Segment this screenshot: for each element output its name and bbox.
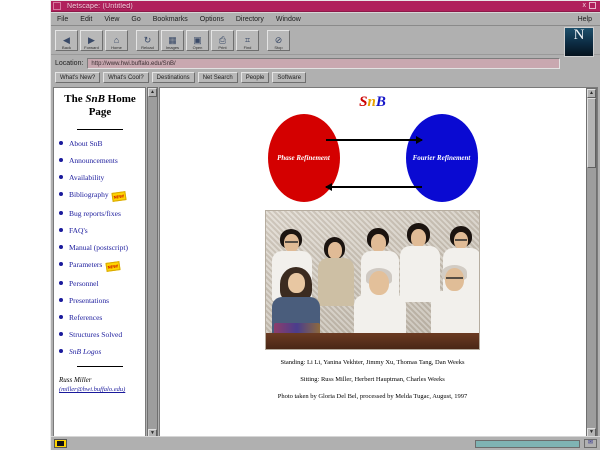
arrow-right-icon <box>326 139 422 141</box>
security-key-icon[interactable] <box>54 439 67 448</box>
sidebar-footer: Russ Miller (miller@hwi.buffalo.edu) <box>59 376 141 394</box>
menu-options[interactable]: Options <box>200 16 231 23</box>
footer-divider <box>77 366 123 367</box>
title-divider <box>77 129 123 130</box>
dir-software[interactable]: Software <box>272 72 306 83</box>
window-menu-icon[interactable] <box>53 2 61 10</box>
sidebar-item-presentations[interactable]: Presentations <box>59 296 141 305</box>
home-button[interactable]: ⌂ Home <box>105 30 128 51</box>
photo-caption-sitting: Sitting: Russ Miller, Herbert Hauptman, … <box>160 376 585 384</box>
sidebar-item-availability[interactable]: Availability <box>59 173 141 182</box>
open-icon: ▣ <box>193 35 202 45</box>
stop-icon: ⊘ <box>275 35 283 45</box>
sidebar-item-faqs[interactable]: FAQ's <box>59 226 141 235</box>
find-button[interactable]: ⌗ Find <box>236 30 259 51</box>
fourier-refinement-node: Fourier Refinement <box>406 114 478 202</box>
directory-button-bar: What's New? What's Cool? Destinations Ne… <box>51 71 600 85</box>
back-button[interactable]: ◀ Back <box>55 30 78 51</box>
location-label: Location: <box>55 60 83 67</box>
snb-logo-heading: SnB <box>160 94 585 111</box>
sidebar-item-structures-solved[interactable]: Structures Solved <box>59 330 141 339</box>
bullet-icon <box>59 349 63 353</box>
arrow-left-icon <box>326 186 422 188</box>
bullet-icon <box>59 175 63 179</box>
bullet-icon <box>59 262 63 266</box>
sidebar-frame-scrollbar[interactable]: ▲ ▼ <box>147 87 158 439</box>
menu-go[interactable]: Go <box>131 16 147 23</box>
main-frame: SnB Phase Refinement Fourier Refinement <box>159 87 598 439</box>
scroll-up-icon[interactable]: ▲ <box>587 89 596 98</box>
netscape-logo-icon[interactable]: N <box>564 27 594 57</box>
bullet-icon <box>59 298 63 302</box>
bullet-icon <box>59 158 63 162</box>
forward-arrow-icon: ▶ <box>88 35 95 45</box>
menu-edit[interactable]: Edit <box>80 16 99 23</box>
group-photo <box>265 210 480 350</box>
dir-whats-new[interactable]: What's New? <box>55 72 100 83</box>
author-name: Russ Miller <box>59 376 141 385</box>
forward-button[interactable]: ▶ Forward <box>80 30 103 51</box>
menu-bar: File Edit View Go Bookmarks Options Dire… <box>51 12 600 26</box>
maximize-icon[interactable] <box>589 2 596 9</box>
dir-net-search[interactable]: Net Search <box>198 72 238 83</box>
scroll-up-icon[interactable]: ▲ <box>148 88 157 97</box>
arrowhead-right-icon <box>416 136 423 144</box>
sidebar-frame: The SnB Home Page About SnB Announcement… <box>53 87 146 439</box>
photo-caption-standing: Standing: Li Li, Yanina Vekhter, Jimmy X… <box>160 359 585 367</box>
location-input[interactable]: http://www.hwi.buffalo.edu/SnB/ <box>87 58 560 69</box>
sidebar-nav-list: About SnB Announcements Availability Bib… <box>59 139 141 356</box>
scroll-thumb[interactable] <box>587 98 596 168</box>
window-controls: x <box>583 2 600 10</box>
bullet-icon <box>59 245 63 249</box>
open-button[interactable]: ▣ Open <box>186 30 209 51</box>
page-content-area: The SnB Home Page About SnB Announcement… <box>51 85 600 441</box>
sidebar-item-bug-reports[interactable]: Bug reports/fixes <box>59 209 141 218</box>
menu-help[interactable]: Help <box>578 16 592 23</box>
bullet-icon <box>59 332 63 336</box>
bullet-icon <box>59 281 63 285</box>
dir-whats-cool[interactable]: What's Cool? <box>103 72 149 83</box>
page-title: The SnB Home Page <box>59 93 141 119</box>
home-icon: ⌂ <box>114 35 119 45</box>
sidebar-item-personnel[interactable]: Personnel <box>59 279 141 288</box>
stop-button[interactable]: ⊘ Stop <box>267 30 290 51</box>
sidebar-item-announcements[interactable]: Announcements <box>59 156 141 165</box>
sidebar-scroll-track[interactable] <box>148 97 157 429</box>
bullet-icon <box>59 141 63 145</box>
new-badge-icon: NEW! <box>106 261 121 272</box>
author-email-link[interactable]: (miller@hwi.buffalo.edu) <box>59 385 141 394</box>
bullet-icon <box>59 315 63 319</box>
main-scroll-track[interactable] <box>587 98 596 428</box>
netscape-browser-window: Netscape: (Untitled) x File Edit View Go… <box>50 0 600 450</box>
find-icon: ⌗ <box>245 35 250 45</box>
back-arrow-icon: ◀ <box>63 35 70 45</box>
photo-table-foreground <box>266 333 479 349</box>
menu-file[interactable]: File <box>57 16 75 23</box>
bullet-icon <box>59 228 63 232</box>
main-page-body: SnB Phase Refinement Fourier Refinement <box>160 88 585 438</box>
arrowhead-left-icon <box>325 183 332 191</box>
menu-view[interactable]: View <box>104 16 126 23</box>
dir-destinations[interactable]: Destinations <box>152 72 195 83</box>
close-icon[interactable]: x <box>583 2 587 10</box>
bullet-icon <box>59 211 63 215</box>
navigation-toolbar: ◀ Back ▶ Forward ⌂ Home ↻ Reload ▦ Image… <box>51 26 600 55</box>
sidebar-item-snb-logos[interactable]: SnB Logos <box>59 347 141 356</box>
sidebar-item-bibliography[interactable]: Bibliography NEW! <box>59 190 141 201</box>
window-titlebar[interactable]: Netscape: (Untitled) x <box>51 1 600 12</box>
sidebar-item-parameters[interactable]: Parameters NEW! <box>59 260 141 271</box>
reload-button[interactable]: ↻ Reload <box>136 30 159 51</box>
sidebar-item-references[interactable]: References <box>59 313 141 322</box>
sidebar-item-about-snb[interactable]: About SnB <box>59 139 141 148</box>
location-bar: Location: http://www.hwi.buffalo.edu/SnB… <box>51 55 600 71</box>
status-bar: ✉ <box>51 436 600 450</box>
print-button[interactable]: ⎙ Print <box>211 30 234 51</box>
window-title: Netscape: (Untitled) <box>61 3 583 10</box>
dir-people[interactable]: People <box>241 72 270 83</box>
reload-icon: ↻ <box>144 35 152 45</box>
desktop-background: Netscape: (Untitled) x File Edit View Go… <box>0 0 600 450</box>
progress-indicator <box>475 440 580 448</box>
new-badge-icon: NEW! <box>112 191 127 202</box>
images-icon: ▦ <box>168 35 177 45</box>
menu-bookmarks[interactable]: Bookmarks <box>153 16 195 23</box>
snb-cycle-diagram: Phase Refinement Fourier Refinement <box>268 114 478 202</box>
mail-status-icon[interactable]: ✉ <box>584 439 597 448</box>
sidebar-item-manual[interactable]: Manual (postscript) <box>59 243 141 252</box>
menu-window[interactable]: Window <box>276 16 308 23</box>
bullet-icon <box>59 192 63 196</box>
photo-caption-credit: Photo taken by Gloria Del Bel, processed… <box>160 393 585 401</box>
menu-directory[interactable]: Directory <box>236 16 271 23</box>
main-frame-scrollbar[interactable]: ▲ ▼ <box>586 88 597 438</box>
images-button[interactable]: ▦ Images <box>161 30 184 51</box>
print-icon: ⎙ <box>219 35 226 45</box>
